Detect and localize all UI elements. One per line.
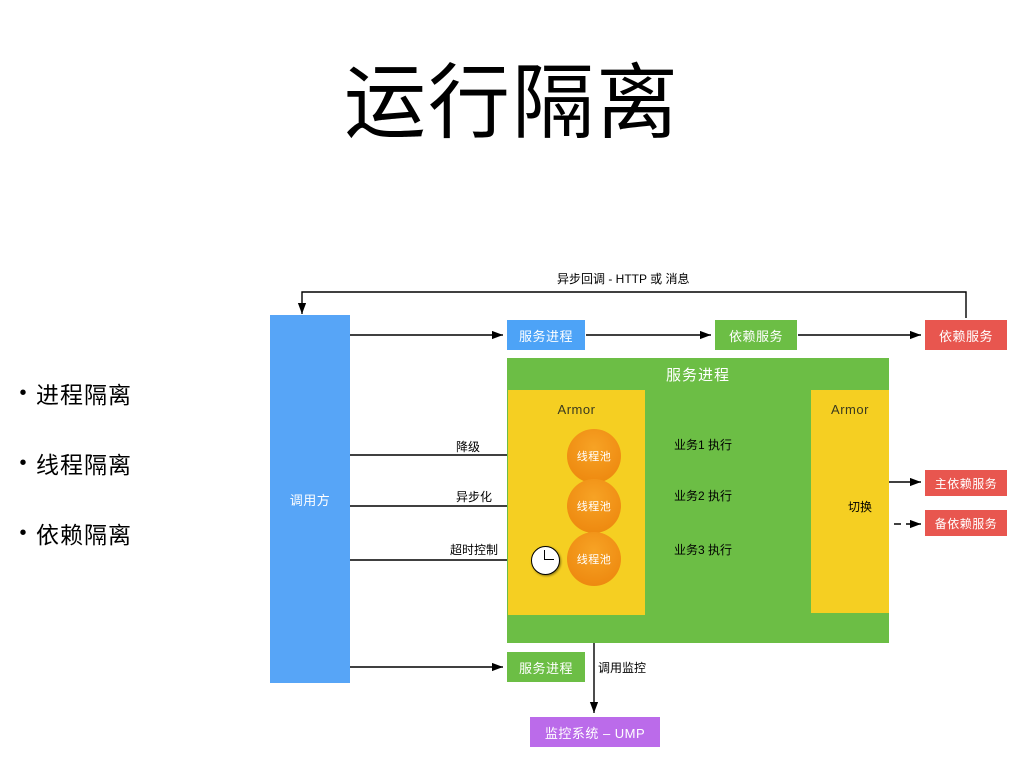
thread-pool-1-label: 线程池: [577, 448, 612, 464]
main-dependency-service-box[interactable]: 主依赖服务: [925, 470, 1007, 496]
backup-dependency-service-label: 备依赖服务: [935, 515, 998, 532]
call-monitor-label: 调用监控: [598, 659, 646, 676]
service-process-top-label: 服务进程: [519, 326, 573, 345]
clock-icon: [531, 546, 560, 575]
monitor-system-box[interactable]: 监控系统 – UMP: [530, 717, 660, 747]
caller-box[interactable]: 调用方: [270, 315, 350, 683]
dependency-service-green-box[interactable]: 依赖服务: [715, 320, 797, 350]
clock-hand-hour: [544, 559, 554, 561]
business-3-label: 业务3 执行: [674, 541, 732, 558]
business-2-label: 业务2 执行: [674, 487, 732, 504]
thread-pool-3[interactable]: 线程池: [567, 532, 621, 586]
dependency-service-red-label: 依赖服务: [939, 326, 993, 345]
thread-pool-1[interactable]: 线程池: [567, 429, 621, 483]
slide-canvas: 运行隔离 • 进程隔离 • 线程隔离 • 依赖隔离: [0, 0, 1024, 768]
thread-pool-3-label: 线程池: [577, 551, 612, 567]
service-process-bottom-label: 服务进程: [519, 658, 573, 677]
thread-pool-2-label: 线程池: [577, 498, 612, 514]
armor-right-label: Armor: [811, 390, 889, 417]
thread-pool-2[interactable]: 线程池: [567, 479, 621, 533]
async-callback-label: 异步回调 - HTTP 或 消息: [557, 270, 689, 287]
architecture-diagram: 调用方 异步回调 - HTTP 或 消息 服务进程 依赖服务 依赖服务 服务进程…: [0, 0, 1024, 768]
timeout-control-label: 超时控制: [450, 541, 498, 558]
service-process-bottom-box[interactable]: 服务进程: [507, 652, 585, 682]
switch-label: 切换: [848, 498, 872, 515]
dependency-service-green-label: 依赖服务: [729, 326, 783, 345]
service-process-top-box[interactable]: 服务进程: [507, 320, 585, 350]
backup-dependency-service-box[interactable]: 备依赖服务: [925, 510, 1007, 536]
monitor-system-label: 监控系统 – UMP: [545, 723, 645, 742]
service-process-container-title: 服务进程: [507, 358, 889, 385]
business-1-label: 业务1 执行: [674, 436, 732, 453]
armor-left-label: Armor: [508, 390, 645, 417]
async-label: 异步化: [456, 488, 492, 505]
caller-label: 调用方: [290, 490, 331, 509]
dependency-service-red-box[interactable]: 依赖服务: [925, 320, 1007, 350]
main-dependency-service-label: 主依赖服务: [935, 475, 998, 492]
degrade-label: 降级: [456, 438, 480, 455]
